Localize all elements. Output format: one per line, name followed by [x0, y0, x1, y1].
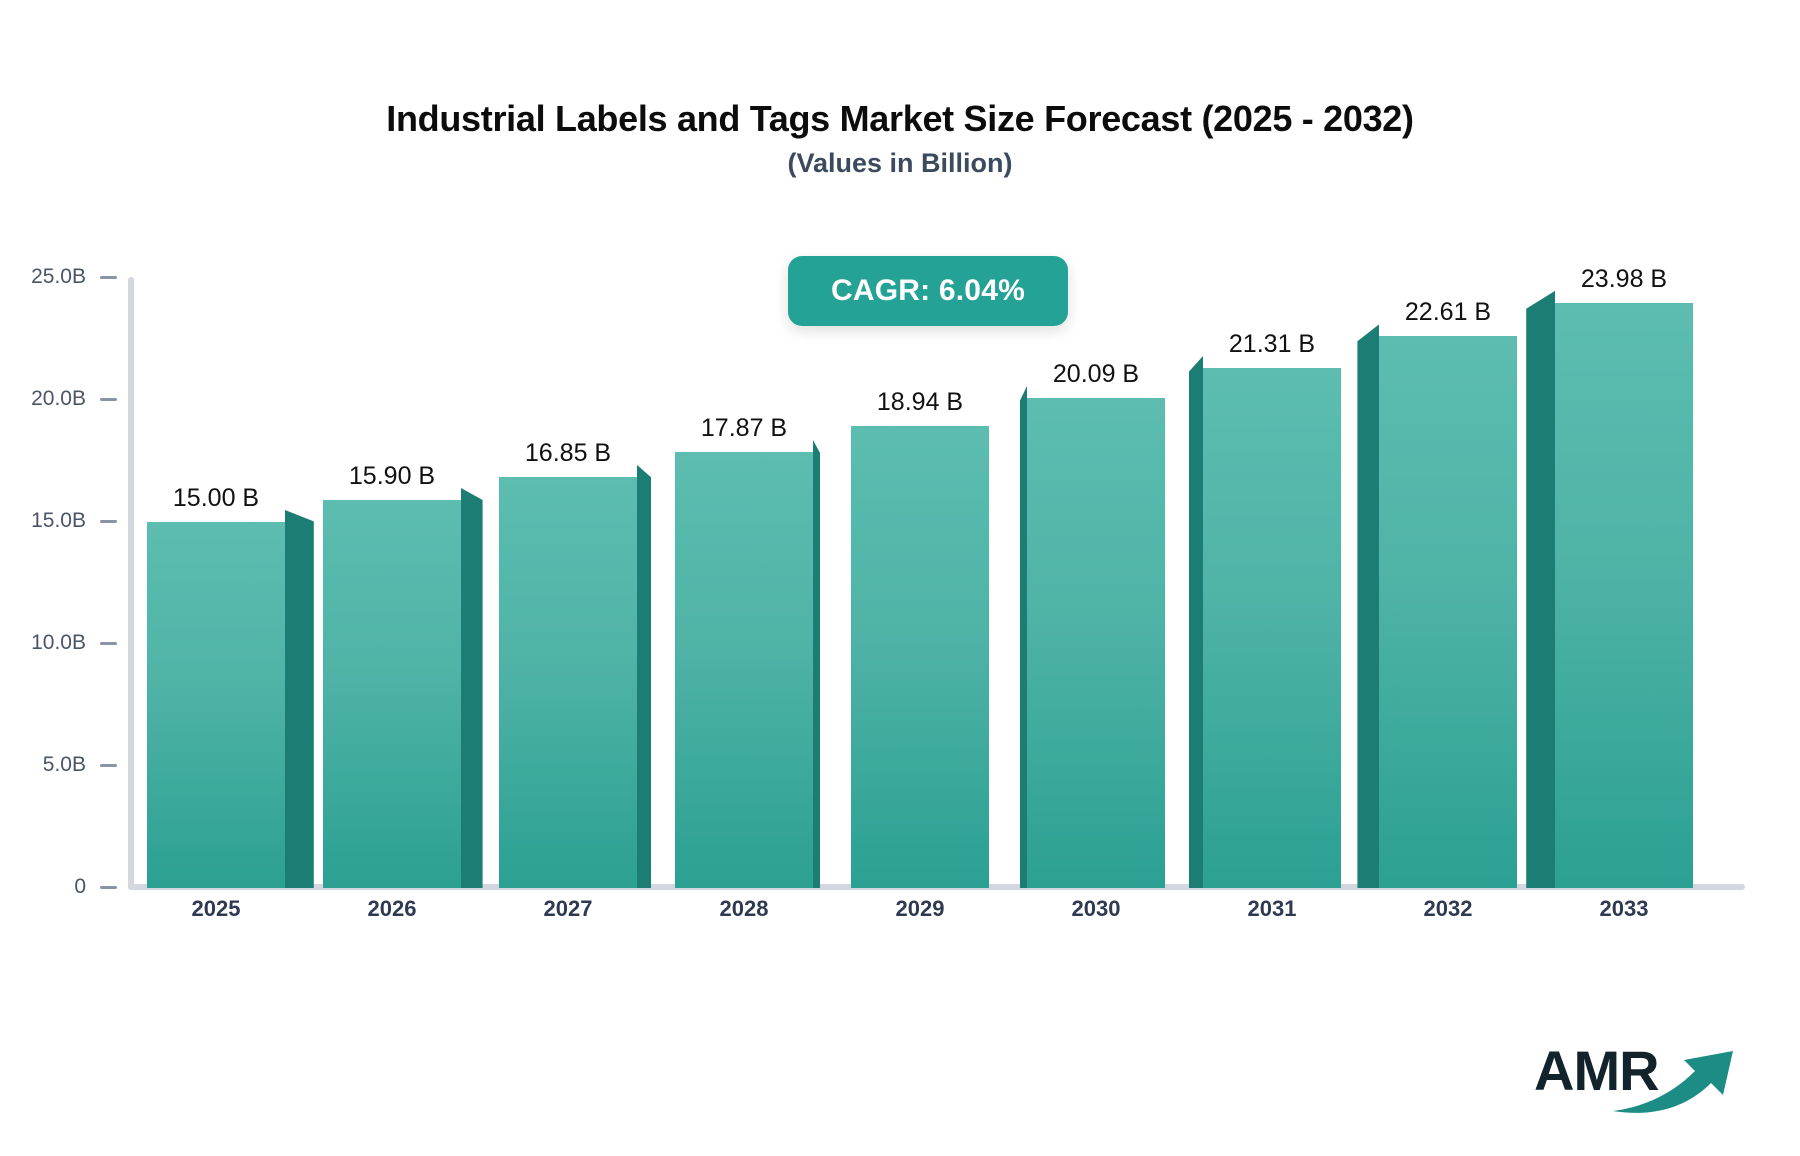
- bar-side-face: [813, 440, 820, 888]
- bar-2032: 22.61 B: [1379, 336, 1517, 888]
- bar-value-label: 22.61 B: [1405, 298, 1491, 327]
- y-axis-tick-label: 10.0B: [31, 631, 86, 655]
- bar-value-label: 21.31 B: [1229, 330, 1315, 359]
- bar-2029: 18.94 B: [851, 426, 989, 888]
- x-axis-tick-label-2025: 2025: [156, 896, 276, 922]
- cagr-badge-label: CAGR: 6.04%: [831, 274, 1025, 308]
- bar-value-label: 15.00 B: [173, 484, 259, 513]
- bar-front-face: [851, 426, 989, 888]
- amr-logo: AMR: [1534, 1043, 1764, 1125]
- bar-side-face: [1357, 324, 1379, 888]
- y-axis-tick-label: 25.0B: [31, 265, 86, 289]
- bar-side-face: [461, 488, 483, 888]
- bar-2030: 20.09 B: [1027, 398, 1165, 888]
- x-axis-tick-label-2031: 2031: [1212, 896, 1332, 922]
- bar-front-face: [1555, 303, 1693, 888]
- bar-2026: 15.90 B: [323, 500, 461, 888]
- page-title: Industrial Labels and Tags Market Size F…: [0, 98, 1800, 140]
- y-axis-tick-label: 5.0B: [43, 753, 86, 777]
- bar-side-face: [637, 465, 651, 888]
- cagr-badge: CAGR: 6.04%: [788, 256, 1068, 326]
- bar-value-label: 17.87 B: [701, 414, 787, 443]
- x-axis-tick-label-2030: 2030: [1036, 896, 1156, 922]
- y-axis-tick: 25.0B: [0, 264, 130, 290]
- y-axis-tick-mark: [100, 764, 117, 767]
- bar-value-label: 15.90 B: [349, 462, 435, 491]
- y-axis-tick-label: 15.0B: [31, 509, 86, 533]
- bar-value-label: 16.85 B: [525, 439, 611, 468]
- y-axis-tick: 15.0B: [0, 508, 130, 534]
- bar-2025: 15.00 B: [147, 522, 285, 888]
- bar-2028: 17.87 B: [675, 452, 813, 888]
- y-axis-tick: 20.0B: [0, 386, 130, 412]
- chart-canvas: Industrial Labels and Tags Market Size F…: [0, 0, 1800, 1156]
- bar-side-face: [1526, 291, 1555, 888]
- bar-value-label: 20.09 B: [1053, 360, 1139, 389]
- bar-front-face: [675, 452, 813, 888]
- growth-arrow-icon: [1611, 1045, 1761, 1117]
- bar-value-label: 18.94 B: [877, 388, 963, 417]
- x-axis-tick-label-2029: 2029: [860, 896, 980, 922]
- bar-side-face: [285, 510, 314, 888]
- y-axis-tick-mark: [100, 520, 117, 523]
- x-axis-tick-label-2027: 2027: [508, 896, 628, 922]
- bar-side-face: [1189, 356, 1203, 888]
- bar-front-face: [323, 500, 461, 888]
- bar-2031: 21.31 B: [1203, 368, 1341, 888]
- bar-front-face: [1027, 398, 1165, 888]
- y-axis-tick-label: 0: [74, 875, 86, 899]
- bar-front-face: [147, 522, 285, 888]
- x-axis-tick-label-2028: 2028: [684, 896, 804, 922]
- y-axis-tick: 5.0B: [0, 752, 130, 778]
- bar-side-face: [1020, 386, 1027, 888]
- y-axis-tick-mark: [100, 276, 117, 279]
- bar-2027: 16.85 B: [499, 477, 637, 888]
- y-axis-tick-mark: [100, 886, 117, 889]
- x-axis-tick-label-2033: 2033: [1564, 896, 1684, 922]
- y-axis-tick-label: 20.0B: [31, 387, 86, 411]
- y-axis-tick: 10.0B: [0, 630, 130, 656]
- bar-value-label: 23.98 B: [1581, 265, 1667, 294]
- bar-2033: 23.98 B: [1555, 303, 1693, 888]
- chart-subtitle: (Values in Billion): [0, 148, 1800, 179]
- bar-front-face: [1203, 368, 1341, 888]
- x-axis-tick-label-2032: 2032: [1388, 896, 1508, 922]
- x-axis-tick-label-2026: 2026: [332, 896, 452, 922]
- y-axis-tick: 0: [0, 874, 130, 900]
- bar-front-face: [1379, 336, 1517, 888]
- plot-area: 15.00 B15.90 B16.85 B17.87 B18.94 B20.09…: [130, 277, 1730, 888]
- y-axis-tick-mark: [100, 642, 117, 645]
- bar-front-face: [499, 477, 637, 888]
- y-axis-tick-mark: [100, 398, 117, 401]
